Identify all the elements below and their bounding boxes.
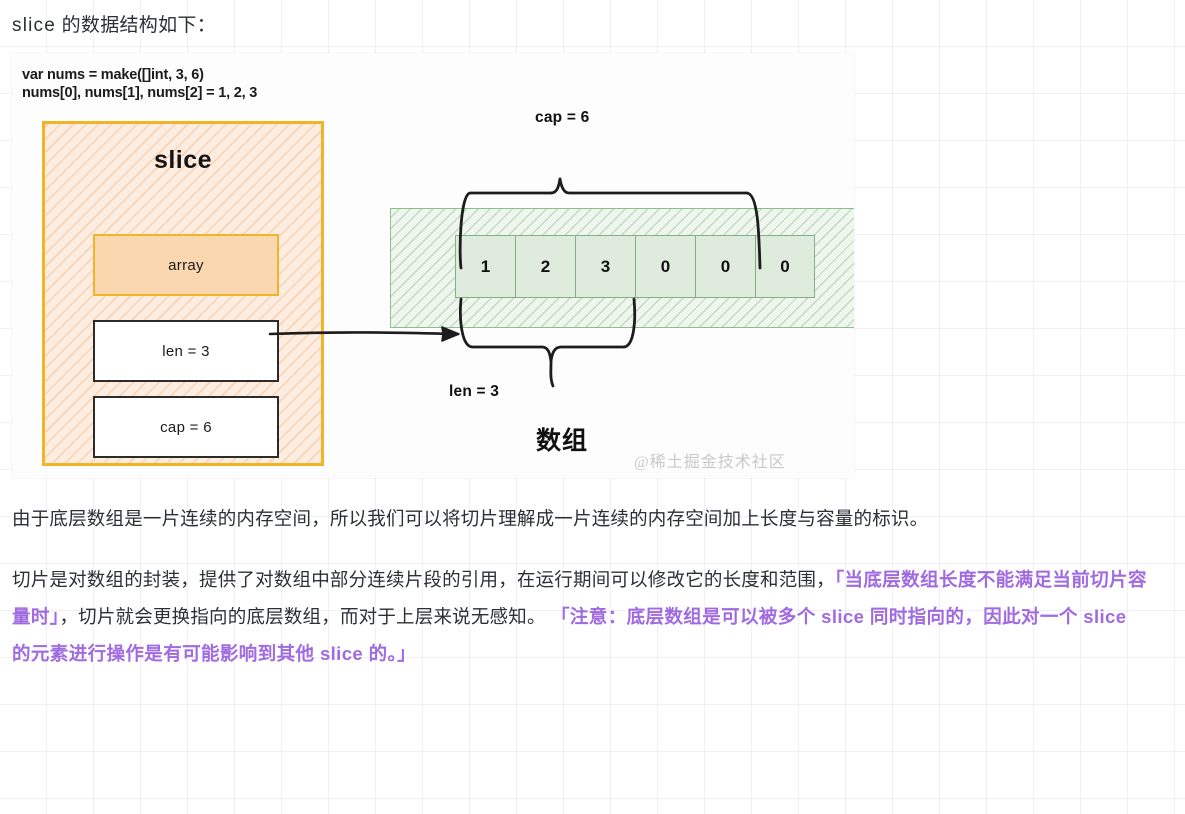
array-cells: 1 2 3 0 0 0 bbox=[455, 235, 815, 298]
intro-code-term: slice bbox=[12, 15, 56, 36]
slice-field-array: array bbox=[93, 234, 279, 296]
paragraph-2: 切片是对数组的封装，提供了对数组中部分连续片段的引用，在运行期间可以修改它的长度… bbox=[12, 561, 1148, 672]
watermark: @稀土掘金技术社区 bbox=[634, 448, 786, 472]
slice-structure-figure: var nums = make([]int, 3, 6) nums[0], nu… bbox=[12, 53, 854, 478]
array-cell: 2 bbox=[515, 235, 575, 298]
array-cell: 3 bbox=[575, 235, 635, 298]
paragraph-1: 由于底层数组是一片连续的内存空间，所以我们可以将切片理解成一片连续的内存空间加上… bbox=[12, 500, 1148, 537]
article-page: slice 的数据结构如下： var nums = make([]int, 3,… bbox=[0, 0, 1185, 814]
paragraph-1-text: 由于底层数组是一片连续的内存空间，所以我们可以将切片理解成一片连续的内存空间加上… bbox=[12, 508, 928, 529]
code-line-1: var nums = make([]int, 3, 6) bbox=[22, 66, 204, 85]
intro-text: 的数据结构如下： bbox=[56, 15, 216, 36]
paragraph-2-part-2: ，切片就会更换指向的底层数组，而对于上层来说无感知。 bbox=[59, 606, 551, 627]
slice-struct-box: slice array len = 3 cap = 6 bbox=[42, 121, 324, 466]
array-cell: 0 bbox=[695, 235, 755, 298]
figure-canvas: var nums = make([]int, 3, 6) nums[0], nu… bbox=[12, 53, 854, 478]
array-cell: 1 bbox=[455, 235, 515, 298]
array-cell: 0 bbox=[755, 235, 815, 298]
slice-field-len: len = 3 bbox=[93, 320, 279, 382]
paragraph-2-part-1: 切片是对数组的封装，提供了对数组中部分连续片段的引用，在运行期间可以修改它的长度… bbox=[12, 569, 835, 590]
len-brace-label: len = 3 bbox=[449, 383, 499, 401]
slice-field-cap: cap = 6 bbox=[93, 396, 279, 458]
array-caption: 数组 bbox=[536, 421, 588, 457]
intro-line: slice 的数据结构如下： bbox=[10, 0, 1175, 40]
array-cell: 0 bbox=[635, 235, 695, 298]
cap-brace-label: cap = 6 bbox=[535, 109, 589, 127]
slice-struct-title: slice bbox=[45, 146, 321, 175]
code-line-2: nums[0], nums[1], nums[2] = 1, 2, 3 bbox=[22, 84, 257, 103]
